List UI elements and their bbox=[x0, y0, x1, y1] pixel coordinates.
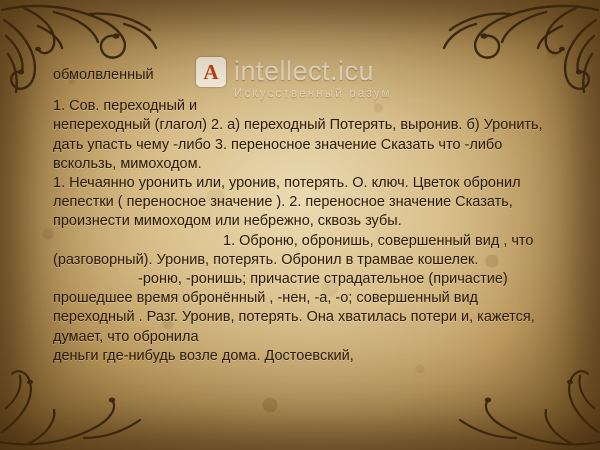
headword: обмолвленный bbox=[53, 66, 551, 85]
sense-block-3: 1. Нечаянно уронить или, уронив, потерят… bbox=[53, 174, 551, 232]
corner-filigree-bottom-left-icon bbox=[0, 359, 164, 450]
sense-block-2: непереходный (глагол) 2. а) переходный П… bbox=[53, 116, 551, 174]
sense-block-5: -роню, -ронишь; причастие страдательное … bbox=[53, 270, 551, 347]
sense-block-1: 1. Сов. переходный и bbox=[53, 97, 551, 116]
corner-filigree-bottom-right-icon bbox=[436, 359, 600, 450]
clipped-last-line: деньги где-нибудь возле дома. Достоевски… bbox=[53, 347, 551, 366]
dictionary-article: обмолвленный 1. Сов. переходный и непере… bbox=[53, 66, 551, 366]
scanned-document-page: A intellect.icu Искусственный разум обмо… bbox=[0, 0, 600, 450]
spacer bbox=[53, 85, 551, 97]
sense-block-4: 1. Оброню, обронишь, совершенный вид , ч… bbox=[53, 232, 551, 270]
